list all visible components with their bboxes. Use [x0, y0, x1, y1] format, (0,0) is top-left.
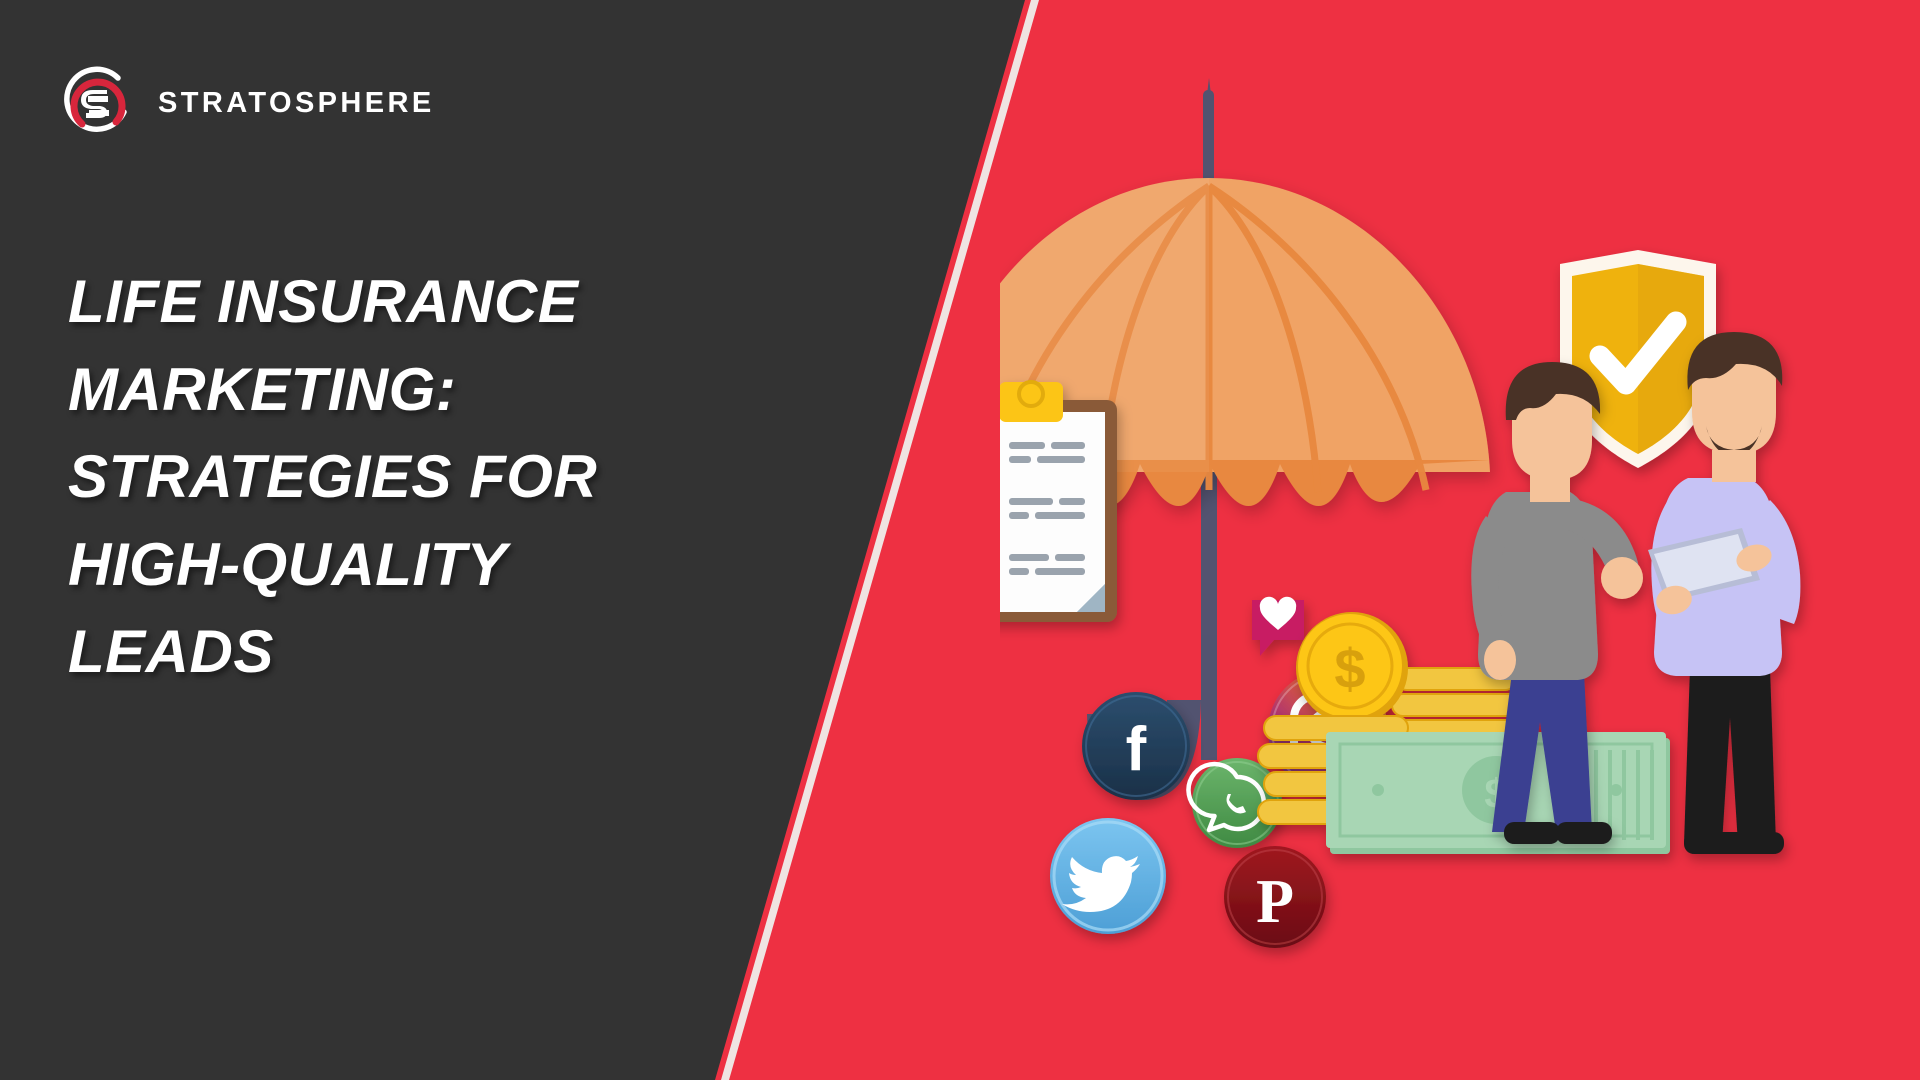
brand-name: STRATOSPHERE: [158, 87, 435, 120]
coin-large: $: [1296, 612, 1408, 724]
headline-line-3: STRATEGIES FOR: [68, 433, 808, 521]
illustration-life-insurance: f P: [1000, 60, 1920, 1080]
headline-line-1: LIFE INSURANCE: [68, 258, 808, 346]
banner-stage: f P: [0, 0, 1920, 1080]
svg-text:P: P: [1256, 868, 1294, 936]
svg-text:f: f: [1126, 715, 1147, 784]
headline-line-5: LEADS: [68, 608, 808, 696]
headline-line-2: MARKETING:: [68, 346, 808, 434]
facebook-icon: f: [1082, 692, 1190, 800]
heart-like-bubble: [1252, 597, 1304, 656]
stratosphere-circle-s-logo-icon: [62, 66, 136, 140]
twitter-icon: [1050, 818, 1166, 934]
pinterest-icon: P: [1224, 846, 1326, 948]
checklist-clipboard: [1000, 382, 1117, 622]
svg-text:$: $: [1334, 637, 1365, 700]
money-stack: $ $: [1258, 612, 1670, 854]
headline-line-4: HIGH-QUALITY: [68, 521, 808, 609]
page-title: LIFE INSURANCE MARKETING: STRATEGIES FOR…: [68, 258, 808, 696]
brand-logo[interactable]: STRATOSPHERE: [62, 66, 435, 140]
